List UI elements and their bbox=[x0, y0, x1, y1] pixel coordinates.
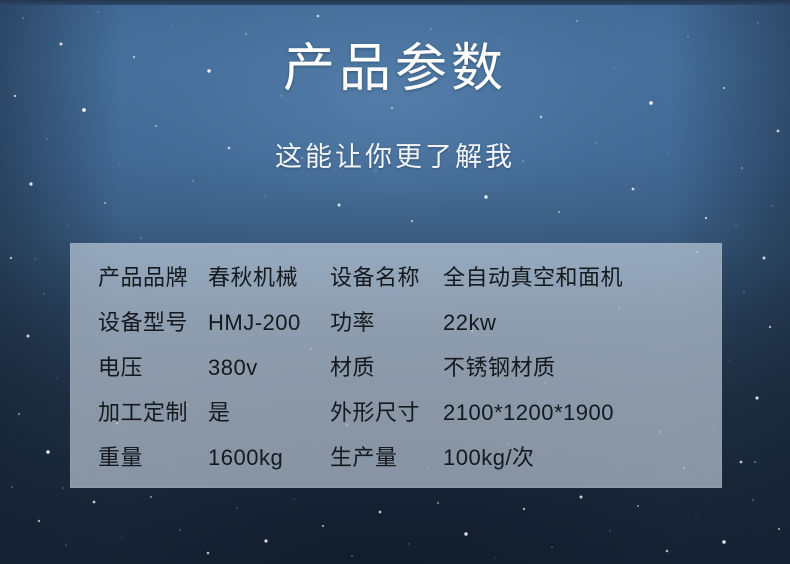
spec-table: 产品品牌 春秋机械 设备名称 全自动真空和面机 设备型号 HMJ-200 功率 … bbox=[70, 243, 722, 488]
spec-value: 22kw bbox=[443, 300, 496, 345]
background-top-strip bbox=[0, 0, 790, 5]
spec-label: 生产量 bbox=[330, 435, 398, 480]
spec-label: 设备名称 bbox=[330, 255, 420, 300]
spec-label: 外形尺寸 bbox=[330, 390, 420, 435]
table-row: 加工定制 是 外形尺寸 2100*1200*1900 bbox=[70, 390, 722, 435]
spec-label: 功率 bbox=[330, 300, 375, 345]
spec-value: 春秋机械 bbox=[208, 255, 298, 300]
spec-label: 产品品牌 bbox=[98, 255, 188, 300]
product-spec-banner: 产品参数 这能让你更了解我 产品品牌 春秋机械 设备名称 全自动真空和面机 设备… bbox=[0, 0, 790, 564]
spec-label: 重量 bbox=[98, 435, 143, 480]
spec-label: 电压 bbox=[98, 345, 143, 390]
page-title: 产品参数 bbox=[0, 38, 790, 100]
spec-value: 2100*1200*1900 bbox=[443, 390, 614, 435]
spec-label: 设备型号 bbox=[98, 300, 188, 345]
spec-value: 全自动真空和面机 bbox=[443, 255, 623, 300]
spec-panel: 产品品牌 春秋机械 设备名称 全自动真空和面机 设备型号 HMJ-200 功率 … bbox=[70, 243, 722, 488]
table-row: 重量 1600kg 生产量 100kg/次 bbox=[70, 435, 722, 480]
spec-value: 是 bbox=[208, 390, 231, 435]
spec-label: 加工定制 bbox=[98, 390, 188, 435]
spec-value: 1600kg bbox=[208, 435, 283, 480]
spec-value: 380v bbox=[208, 345, 258, 390]
table-row: 设备型号 HMJ-200 功率 22kw bbox=[70, 300, 722, 345]
table-row: 产品品牌 春秋机械 设备名称 全自动真空和面机 bbox=[70, 255, 722, 300]
spec-label: 材质 bbox=[330, 345, 375, 390]
spec-value: 不锈钢材质 bbox=[443, 345, 556, 390]
table-row: 电压 380v 材质 不锈钢材质 bbox=[70, 345, 722, 390]
spec-value: HMJ-200 bbox=[208, 300, 301, 345]
spec-value: 100kg/次 bbox=[443, 435, 535, 480]
page-subtitle: 这能让你更了解我 bbox=[0, 139, 790, 175]
